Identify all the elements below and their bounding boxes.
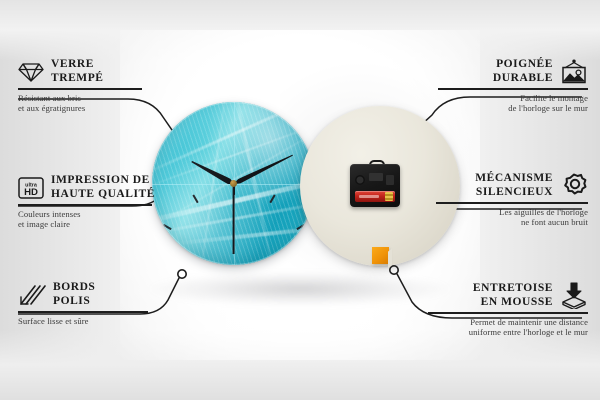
feature-impression-haute-qualite: ultra HD IMPRESSION DE HAUTE QUALITÉ Cou… xyxy=(18,174,160,230)
feature-mecanisme-silencieux: MÉCANISME SILENCIEUX Les aiguilles de l'… xyxy=(436,172,588,228)
infographic-canvas: VERRE TREMPÉ Résistant aux bris et aux é… xyxy=(0,0,600,400)
feature-divider xyxy=(436,202,588,204)
feature-divider xyxy=(438,88,588,90)
feature-verre-trempe: VERRE TREMPÉ Résistant aux bris et aux é… xyxy=(18,58,158,114)
feature-title-line2: SILENCIEUX xyxy=(475,186,553,200)
feature-title-line2: TREMPÉ xyxy=(51,72,104,86)
feature-description: Couleurs intenses et image claire xyxy=(18,209,160,230)
feature-description: Les aiguilles de l'horloge ne font aucun… xyxy=(436,207,588,228)
feature-desc-line1: Permet de maintenir une distance xyxy=(428,317,588,328)
quartz-mechanism xyxy=(350,160,400,207)
polished-edges-icon xyxy=(18,284,46,306)
feature-title-line2: HAUTE QUALITÉ xyxy=(51,188,155,202)
feature-divider xyxy=(18,88,142,90)
feature-poignee-durable: POIGNÉE DURABLE Facilite le montage de l… xyxy=(438,58,588,114)
feature-description: Surface lisse et sûre xyxy=(18,316,158,327)
feature-header: MÉCANISME SILENCIEUX xyxy=(436,172,588,199)
feature-desc-line2: ne font aucun bruit xyxy=(436,217,588,228)
feature-title-line1: BORDS xyxy=(53,281,95,295)
feature-description: Permet de maintenir une distance uniform… xyxy=(428,317,588,338)
feature-header: VERRE TREMPÉ xyxy=(18,58,158,85)
clock-front-face xyxy=(152,102,315,265)
diamond-icon xyxy=(18,61,44,83)
feature-desc-line2: et aux égratignures xyxy=(18,103,158,114)
feature-title-line2: EN MOUSSE xyxy=(473,296,553,310)
mechanism-detail xyxy=(386,175,394,185)
feature-desc-line1: Résistant aux bris xyxy=(18,93,158,104)
feature-divider xyxy=(428,312,588,314)
feature-header: ENTRETOISE EN MOUSSE xyxy=(428,282,588,309)
feature-desc-line1: Les aiguilles de l'horloge xyxy=(436,207,588,218)
feature-title-line1: POIGNÉE xyxy=(493,58,553,72)
glass-rim xyxy=(152,102,315,265)
feature-title-line1: ENTRETOISE xyxy=(473,282,553,296)
feature-divider xyxy=(18,204,152,206)
ultra-hd-icon: ultra HD xyxy=(18,176,44,200)
feature-header: ultra HD IMPRESSION DE HAUTE QUALITÉ xyxy=(18,174,160,201)
mechanism-housing xyxy=(350,164,400,207)
feature-desc-line2: de l'horloge sur le mur xyxy=(438,103,588,114)
feature-title: BORDS POLIS xyxy=(53,281,95,308)
aa-battery xyxy=(355,191,395,202)
feature-title: POIGNÉE DURABLE xyxy=(493,58,553,85)
feature-title-line2: DURABLE xyxy=(493,72,553,86)
hour-tick xyxy=(234,264,316,265)
feature-title: IMPRESSION DE HAUTE QUALITÉ xyxy=(51,174,155,201)
feature-divider xyxy=(18,311,148,313)
feature-title-line1: VERRE xyxy=(51,58,104,72)
feature-desc-line1: Facilite le montage xyxy=(438,93,588,104)
feature-title: VERRE TREMPÉ xyxy=(51,58,104,85)
feature-desc-line2: et image claire xyxy=(18,219,160,230)
feature-title-line2: POLIS xyxy=(53,295,95,309)
feature-title-line1: MÉCANISME xyxy=(475,172,553,186)
product-floor-shadow xyxy=(150,272,450,306)
ultra-hd-icon-big-label: HD xyxy=(24,187,38,198)
feature-title-line1: IMPRESSION DE xyxy=(51,174,155,188)
feature-title: MÉCANISME SILENCIEUX xyxy=(475,172,553,199)
feature-bords-polis: BORDS POLIS Surface lisse et sûre xyxy=(18,281,158,326)
gear-icon xyxy=(560,172,588,199)
feature-desc-line1: Couleurs intenses xyxy=(18,209,160,220)
foam-spacer xyxy=(372,247,389,264)
feature-header: BORDS POLIS xyxy=(18,281,158,308)
feature-title: ENTRETOISE EN MOUSSE xyxy=(473,282,553,309)
mechanism-dial xyxy=(355,175,365,185)
picture-hanger-icon xyxy=(560,59,588,85)
feature-entretoise-en-mousse: ENTRETOISE EN MOUSSE Permet de maintenir… xyxy=(428,282,588,338)
feature-desc-line1: Surface lisse et sûre xyxy=(18,316,158,327)
foam-spacer-icon xyxy=(560,282,588,309)
feature-description: Résistant aux bris et aux égratignures xyxy=(18,93,158,114)
feature-description: Facilite le montage de l'horloge sur le … xyxy=(438,93,588,114)
feature-desc-line2: uniforme entre l'horloge et le mur xyxy=(428,327,588,338)
mechanism-label xyxy=(369,173,383,181)
feature-header: POIGNÉE DURABLE xyxy=(438,58,588,85)
